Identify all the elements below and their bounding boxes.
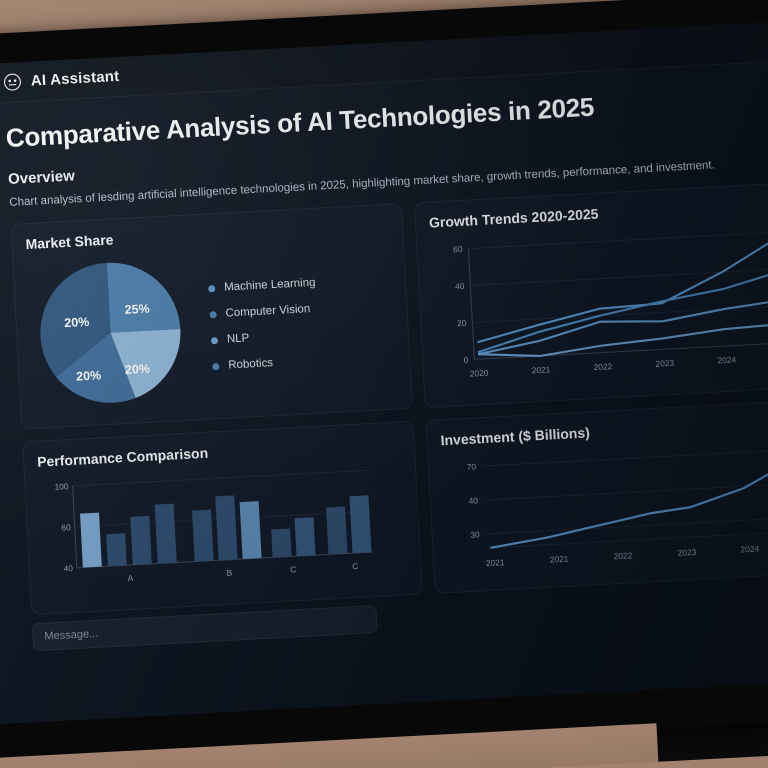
y-tick: 0 (463, 355, 469, 365)
bot-icon (2, 72, 22, 92)
message-input-placeholder: Message... (44, 628, 98, 643)
growth-trends-chart: 60 40 20 0 ML CV NLP (430, 217, 768, 397)
card-investment: Investment ($ Billions) 70 40 30 2021 20… (426, 399, 768, 594)
app-title: AI Assistant (30, 68, 119, 90)
y-tick: 100 (54, 481, 69, 492)
pie-label-cv: 20% (125, 362, 151, 377)
bar (155, 504, 177, 564)
legend-dot-icon (211, 337, 218, 344)
x-tick: 2023 (655, 358, 674, 369)
y-tick: 40 (455, 281, 465, 291)
x-tick: 2020 (470, 368, 489, 379)
legend-label: Machine Learning (224, 277, 316, 294)
x-tick: 2021 (531, 365, 550, 376)
photo-scene: AI Assistant Comparative Analysis of AI … (0, 0, 768, 768)
legend-dot-icon (212, 363, 219, 370)
x-tick: 2022 (613, 551, 632, 562)
bar (295, 517, 316, 556)
x-tick: 2021 (550, 554, 569, 565)
bar (130, 516, 152, 565)
application-window: AI Assistant Comparative Analysis of AI … (0, 19, 768, 725)
legend-label: Computer Vision (225, 303, 310, 319)
y-tick: 40 (63, 563, 73, 573)
card-growth-trends: Growth Trends 2020-2025 60 40 20 (414, 181, 768, 408)
x-tick: 2023 (677, 547, 696, 558)
legend-dot-icon (209, 311, 216, 318)
series-line-investment (486, 451, 768, 548)
x-tick: C (352, 561, 359, 571)
pie-label-nlp: 20% (76, 369, 102, 384)
x-tick: A (127, 573, 134, 583)
legend-item-computer-vision[interactable]: Computer Vision (209, 303, 317, 321)
document-body: Comparative Analysis of AI Technologies … (0, 59, 768, 618)
legend-label: Robotics (228, 357, 273, 371)
charts-grid: Market Share (11, 181, 768, 616)
y-tick: 60 (453, 244, 463, 254)
pie-label-ml: 25% (124, 302, 150, 317)
legend-item-robotics[interactable]: Robotics (212, 355, 320, 373)
bar (106, 534, 127, 567)
bar (349, 496, 371, 554)
y-tick: 60 (61, 522, 71, 532)
pie-label-robotics: 20% (64, 315, 90, 330)
monitor-screen: AI Assistant Comparative Analysis of AI … (0, 19, 768, 725)
bar (271, 529, 291, 558)
bar (215, 496, 237, 561)
x-tick: 2024 (717, 355, 736, 366)
legend-item-nlp[interactable]: NLP (211, 329, 319, 347)
bar (192, 510, 214, 562)
y-tick: 70 (466, 462, 476, 472)
y-tick: 20 (457, 318, 467, 328)
bar (80, 513, 102, 568)
legend-label: NLP (227, 333, 250, 346)
pie-chart: 25% 20% 20% 20% (26, 249, 202, 416)
x-tick: B (226, 568, 233, 578)
y-tick: 40 (468, 496, 478, 506)
x-tick: 2024 (740, 544, 759, 555)
pie-chart-svg: 25% 20% 20% 20% (26, 249, 202, 416)
pie-legend: Machine Learning Computer Vision NLP (202, 277, 320, 373)
x-tick: 2022 (593, 361, 612, 372)
card-market-share: Market Share (11, 203, 413, 430)
card-performance-comparison: Performance Comparison 100 60 40 (22, 421, 423, 616)
x-tick: 2021 (486, 557, 505, 568)
investment-chart: 70 40 30 2021 2021 2022 2023 2024 2025 (441, 434, 768, 582)
performance-comparison-chart: 100 60 40 A (38, 458, 384, 604)
legend-item-machine-learning[interactable]: Machine Learning (208, 277, 316, 295)
legend-dot-icon (208, 285, 215, 292)
y-tick: 30 (470, 530, 480, 540)
bar (326, 507, 347, 555)
x-tick: C (290, 564, 297, 574)
bar (240, 501, 262, 559)
